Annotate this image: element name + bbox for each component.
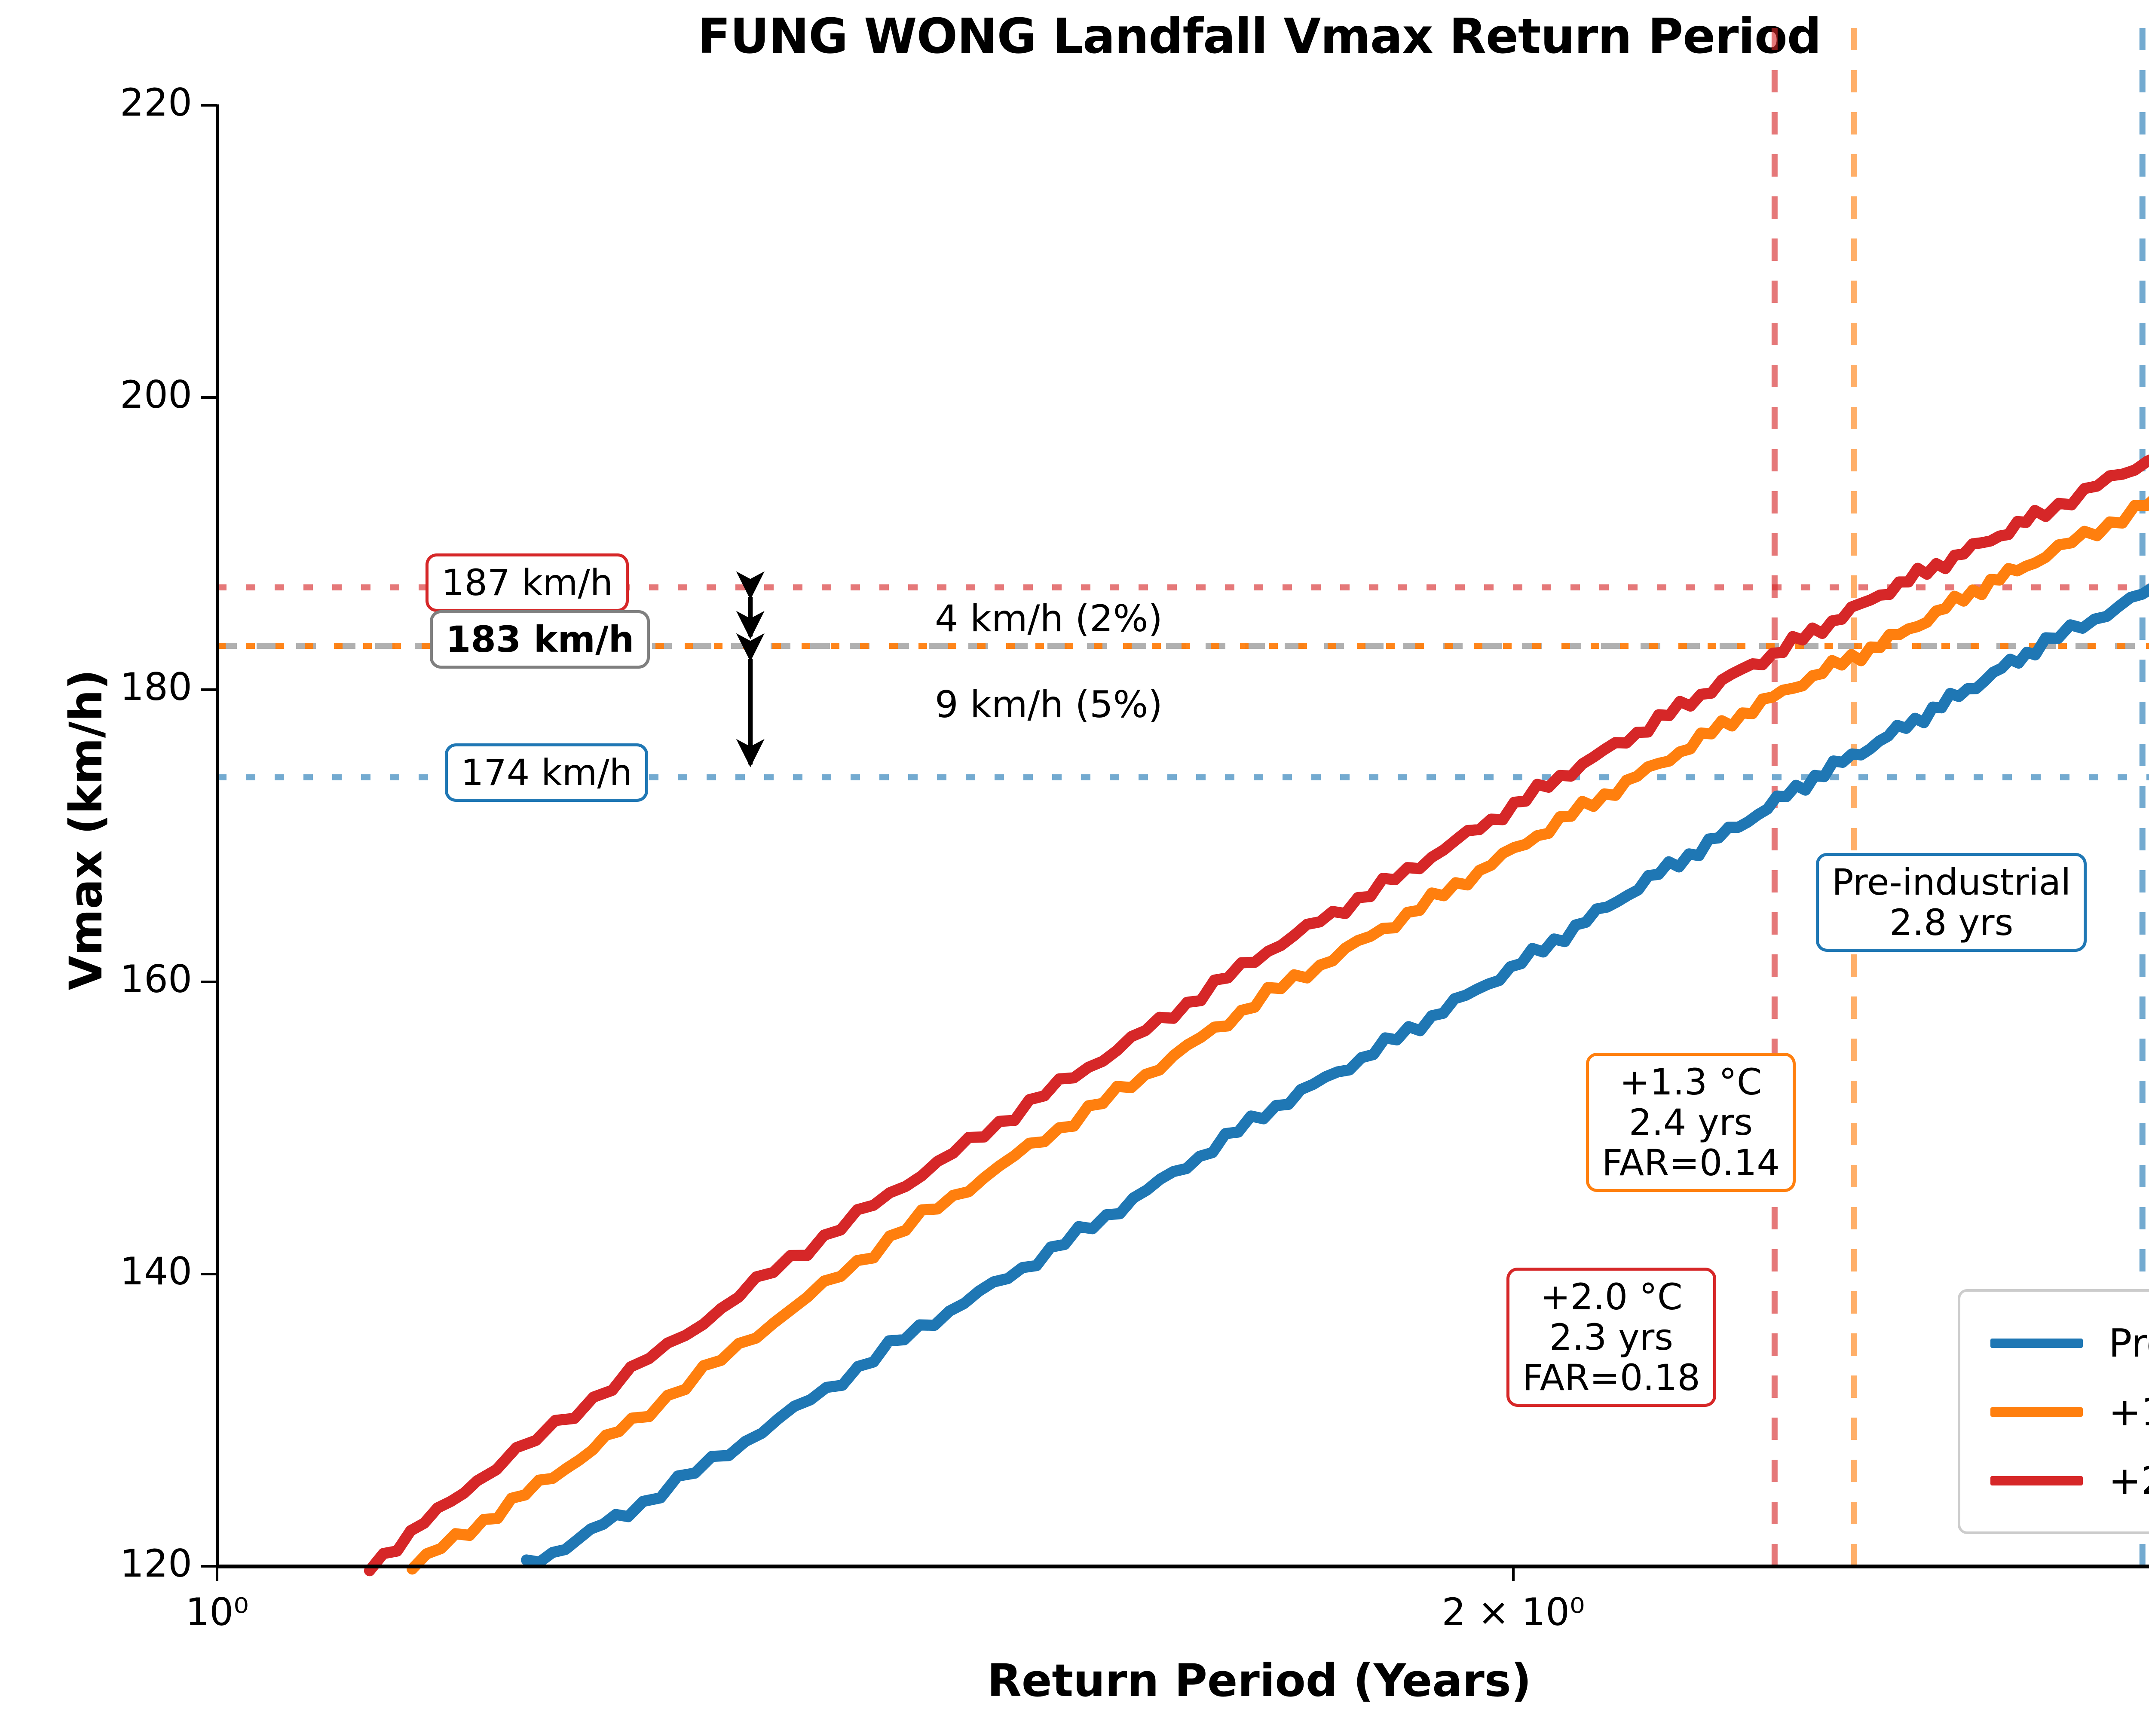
x-axis-label: Return Period (Years) bbox=[0, 1654, 2149, 1707]
figure-canvas: FUNG WONG Landfall Vmax Return Period 22… bbox=[0, 0, 2149, 1736]
y-tick-mark bbox=[201, 981, 217, 983]
chart-title: FUNG WONG Landfall Vmax Return Period bbox=[0, 9, 2149, 64]
legend-item-2[interactable]: +2.0 °C bbox=[1960, 1446, 2149, 1515]
x-tick-label: 2 × 10⁰ bbox=[1442, 1590, 1585, 1634]
legend: Pre-industrial+1.3 °C+2.0 °C bbox=[1958, 1289, 2149, 1534]
y-tick-mark bbox=[201, 104, 217, 107]
x-tick-mark bbox=[216, 1566, 218, 1581]
y-tick-mark bbox=[201, 1565, 217, 1568]
legend-label: +1.3 °C bbox=[2109, 1390, 2149, 1435]
y-axis-label: Vmax (km/h) bbox=[60, 314, 112, 1345]
legend-item-0[interactable]: Pre-industrial bbox=[1960, 1309, 2149, 1378]
scenario-box-plus13: +1.3 °C 2.4 yrs FAR=0.14 bbox=[1586, 1053, 1796, 1192]
y-tick-mark bbox=[201, 688, 217, 691]
legend-swatch-icon bbox=[1990, 1339, 2083, 1348]
value-box-174: 174 km/h bbox=[445, 743, 648, 802]
scenario-box-preindustrial: Pre-industrial 2.8 yrs bbox=[1816, 853, 2087, 952]
legend-swatch-icon bbox=[1990, 1476, 2083, 1485]
scenario-box-plus20: +2.0 °C 2.3 yrs FAR=0.18 bbox=[1506, 1268, 1716, 1407]
legend-label: +2.0 °C bbox=[2109, 1458, 2149, 1504]
legend-label: Pre-industrial bbox=[2109, 1321, 2149, 1366]
x-axis-spine bbox=[216, 1565, 2149, 1568]
legend-swatch-icon bbox=[1990, 1407, 2083, 1417]
x-tick-label: 10⁰ bbox=[185, 1590, 248, 1634]
value-box-187: 187 km/h bbox=[426, 553, 629, 612]
y-tick-mark bbox=[201, 396, 217, 399]
x-tick-mark bbox=[1512, 1566, 1515, 1581]
y-axis-spine bbox=[216, 104, 219, 1567]
y-tick-label: 220 bbox=[0, 80, 192, 125]
delta-label-lower: 9 km/h (5%) bbox=[935, 683, 1163, 726]
delta-label-upper: 4 km/h (2%) bbox=[935, 597, 1163, 640]
y-tick-label: 120 bbox=[0, 1541, 192, 1586]
legend-item-1[interactable]: +1.3 °C bbox=[1960, 1378, 2149, 1446]
value-box-183: 183 km/h bbox=[430, 610, 650, 669]
y-tick-mark bbox=[201, 1273, 217, 1275]
